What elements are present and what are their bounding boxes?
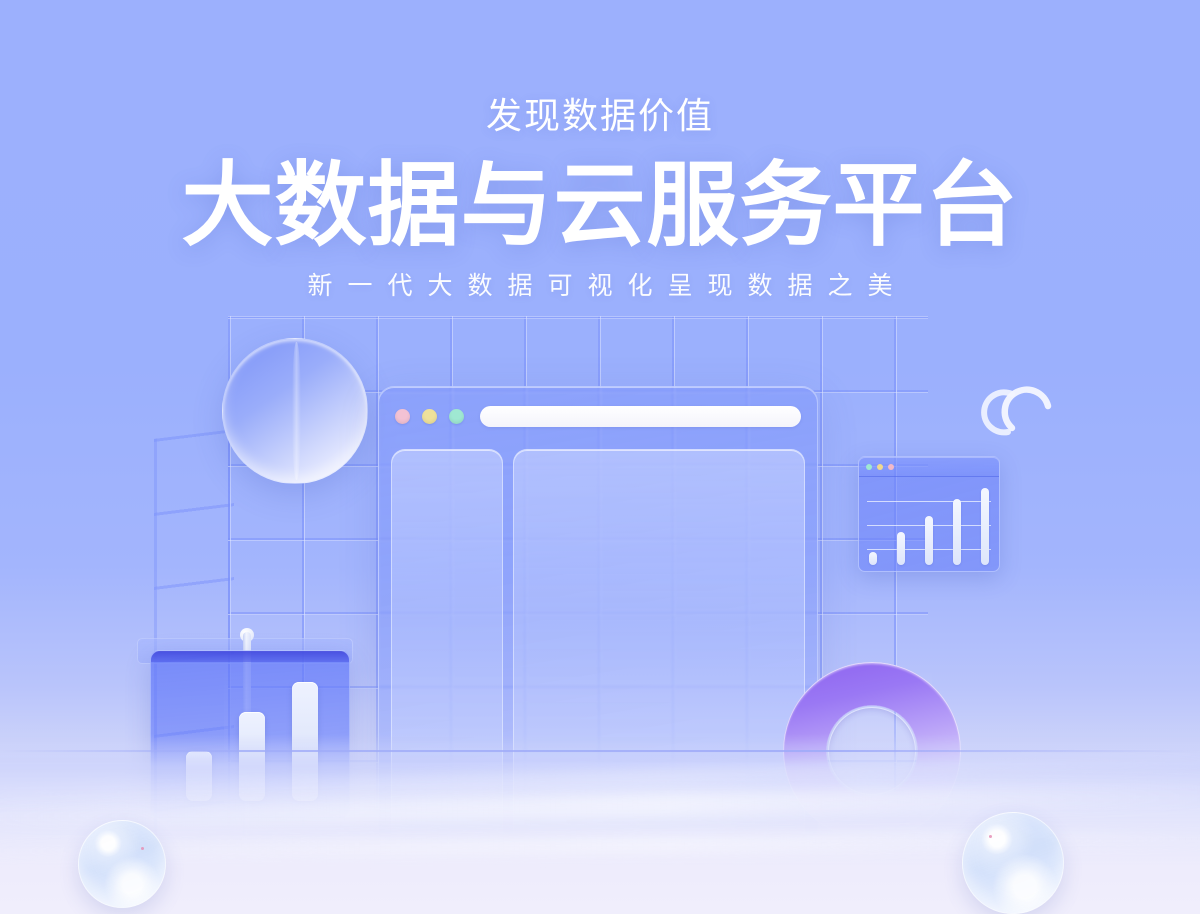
hero-tagline: 新一代大数据可视化呈现数据之美 [0,271,1200,301]
cloud-icon [976,366,1068,438]
page-title: 大数据与云服务平台 [0,160,1200,254]
chart-bar [981,488,989,565]
close-dot-icon[interactable] [888,464,894,470]
mini-chart-window [858,456,1000,572]
chart-bar [869,552,877,565]
hero-eyebrow: 发现数据价值 [0,96,1200,136]
floor-horizon-line [0,750,1200,752]
minimize-dot-icon[interactable] [877,464,883,470]
glass-sphere [962,812,1064,914]
mini-window-title-bar [859,457,999,477]
panel-header-bar [151,651,349,662]
glass-disc [222,338,368,484]
browser-title-bar [379,387,817,445]
sphere-highlight-dot [141,847,144,850]
glass-sphere [78,820,166,908]
hero-banner: 发现数据价值 大数据与云服务平台 新一代大数据可视化呈现数据之美 [0,0,1200,914]
sphere-highlight-dot [989,835,992,838]
chart-bar [897,532,905,565]
maximize-dot-icon[interactable] [449,409,464,424]
hero-text-block: 发现数据价值 大数据与云服务平台 新一代大数据可视化呈现数据之美 [0,0,1200,301]
mini-bar-chart [859,477,999,571]
maximize-dot-icon[interactable] [866,464,872,470]
chart-bar [925,516,933,565]
chart-bars [869,483,989,565]
address-bar-input[interactable] [480,406,801,427]
close-dot-icon[interactable] [395,409,410,424]
minimize-dot-icon[interactable] [422,409,437,424]
chart-bar [953,499,961,565]
